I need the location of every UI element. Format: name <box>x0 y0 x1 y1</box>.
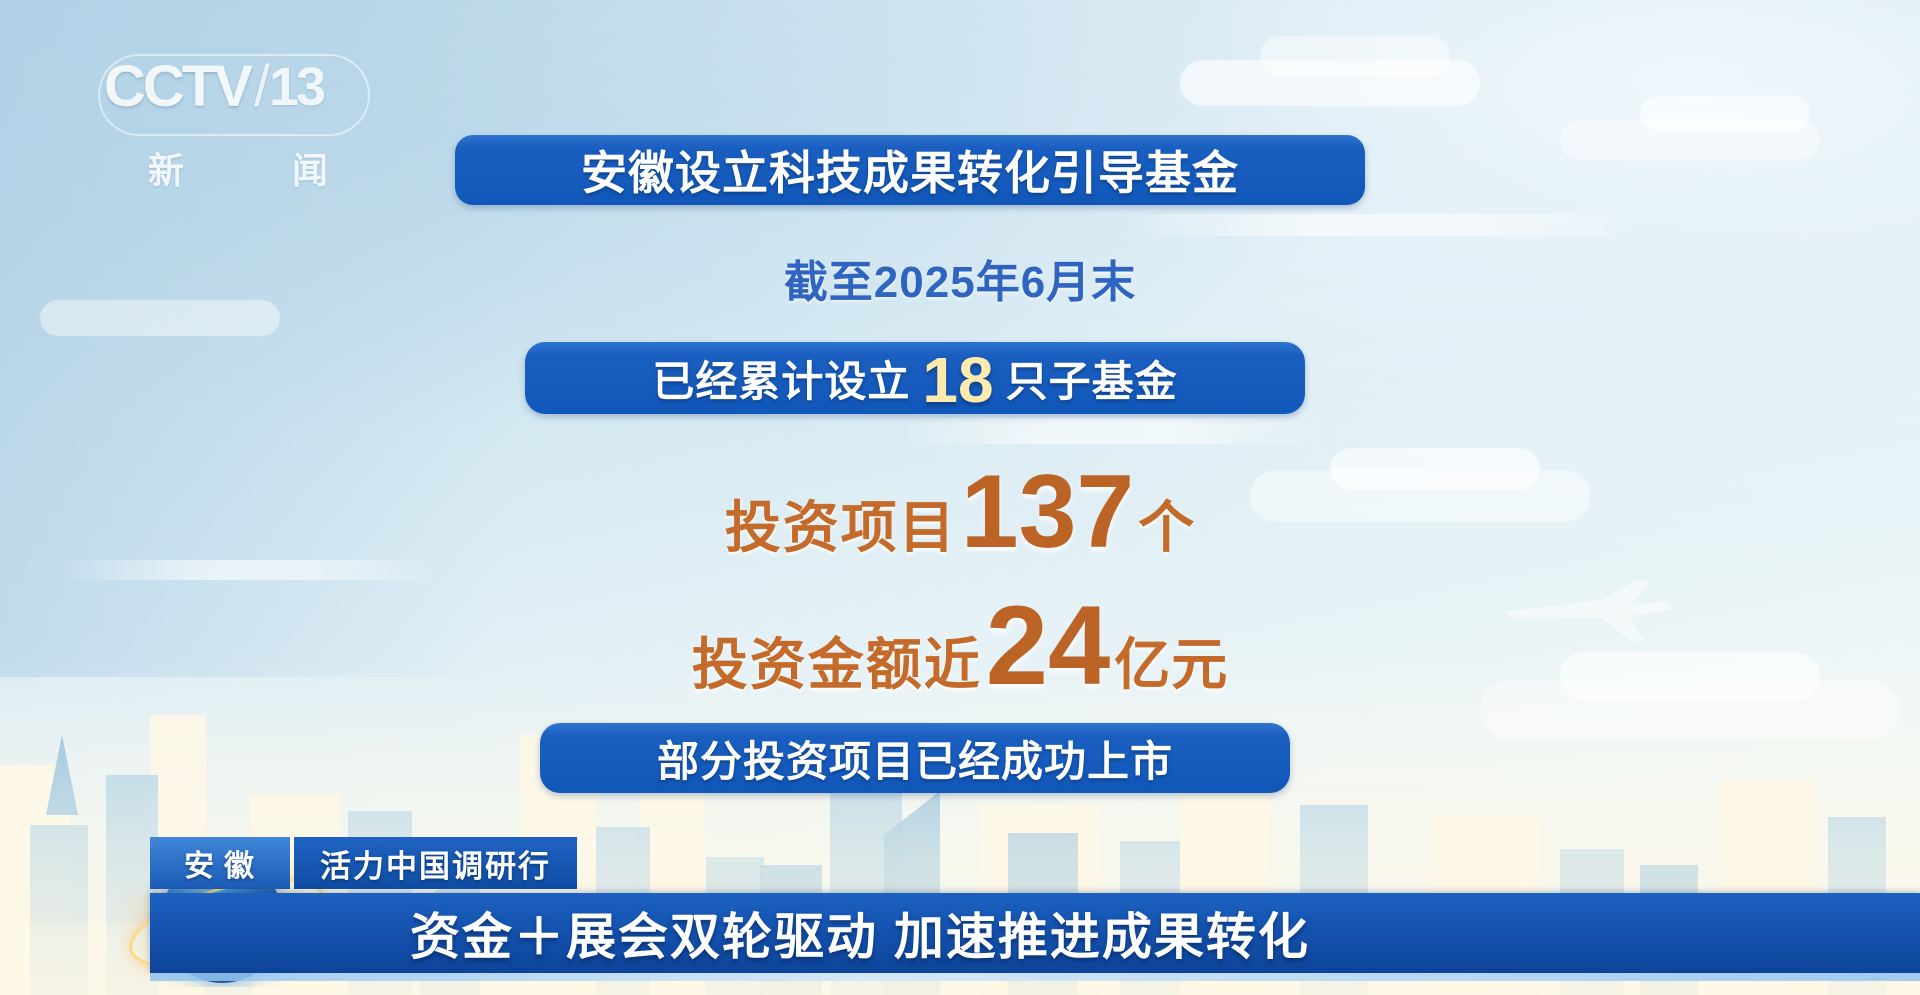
cctv13-logo: CCTV / 13 新 闻 <box>104 58 364 188</box>
region-tag: 安徽 <box>150 837 290 889</box>
banner-main-title: 安徽设立科技成果转化引导基金 <box>455 135 1365 205</box>
stat-invested-projects: 投资项目137个 <box>0 460 1920 564</box>
headline-bar: 资金＋展会双轮驱动 加速推进成果转化 <box>150 893 1920 973</box>
amount-label: 投资金额近 <box>692 633 982 696</box>
subfunds-suffix: 只子基金 <box>1006 348 1178 409</box>
banner-subfunds: 已经累计设立 18 只子基金 <box>525 342 1305 414</box>
subfunds-prefix: 已经累计设立 <box>652 348 910 409</box>
infographic-subtitle: 截至2025年6月末 <box>0 246 1920 310</box>
logo-cn-char-1: 新 <box>148 142 184 194</box>
lower-third: 安徽 活力中国调研行 资金＋展会双轮驱动 加速推进成果转化 <box>0 755 1920 995</box>
projects-label: 投资项目 <box>725 496 957 559</box>
logo-chinese-label: 新 闻 <box>148 142 328 194</box>
projects-unit: 个 <box>1138 496 1195 559</box>
lower-third-tag-row: 安徽 活力中国调研行 <box>150 837 577 889</box>
amount-value: 24 <box>982 583 1115 708</box>
broadcast-frame: CCTV / 13 新 闻 安徽设立科技成果转化引导基金 截至2025年6月末 … <box>0 0 1920 995</box>
program-tag: 活力中国调研行 <box>294 837 577 889</box>
logo-cn-char-2: 闻 <box>292 142 328 194</box>
projects-value: 137 <box>957 454 1139 570</box>
banner-main-title-text: 安徽设立科技成果转化引导基金 <box>581 137 1239 203</box>
stat-invested-amount: 投资金额近24亿元 <box>0 590 1920 702</box>
logo-pill-outline <box>98 54 370 136</box>
subfunds-value: 18 <box>910 348 1005 412</box>
amount-unit: 亿元 <box>1114 633 1228 696</box>
headline-underline <box>150 973 1920 981</box>
headline-text: 资金＋展会双轮驱动 加速推进成果转化 <box>410 897 1310 969</box>
